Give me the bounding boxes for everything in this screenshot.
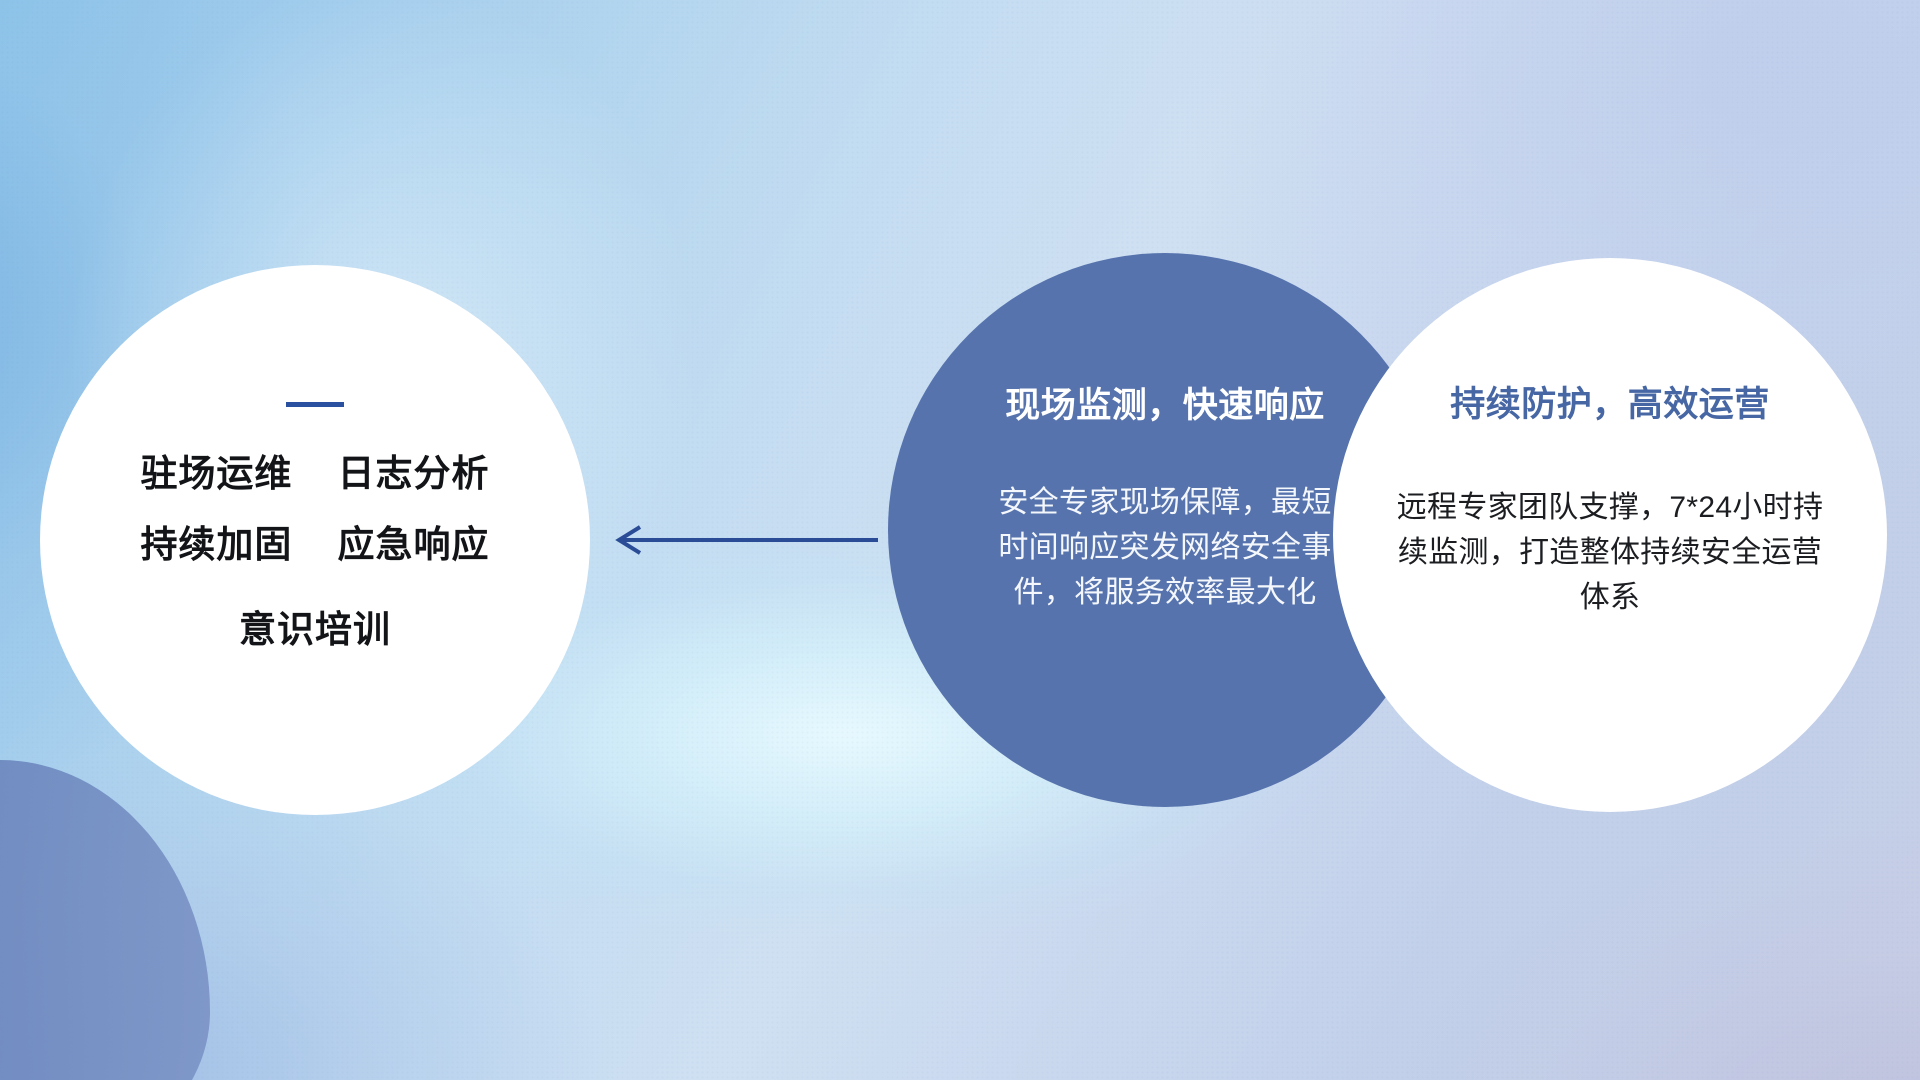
right-circle-description: 远程专家团队支撑，7*24小时持续监测，打造整体持续安全运营体系	[1395, 485, 1825, 620]
slide-canvas: 驻场运维 日志分析 持续加固 应急响应 意识培训 现场监测，快速响应 安全专家现…	[0, 0, 1920, 1080]
left-circle-keyword-list: 驻场运维 日志分析 持续加固 应急响应 意识培训	[140, 455, 489, 648]
flow-arrow-icon	[600, 520, 880, 560]
list-item: 意识培训	[140, 611, 489, 648]
list-item: 驻场运维 日志分析	[140, 455, 489, 492]
right-circle-node: 持续防护，高效运营 远程专家团队支撑，7*24小时持续监测，打造整体持续安全运营…	[1333, 258, 1887, 812]
left-circle-content: 驻场运维 日志分析 持续加固 应急响应 意识培训	[40, 265, 590, 815]
list-item: 持续加固 应急响应	[140, 526, 489, 563]
left-circle-node: 驻场运维 日志分析 持续加固 应急响应 意识培训	[40, 265, 590, 815]
divider-dash	[286, 402, 344, 407]
middle-circle-description: 安全专家现场保障，最短时间响应突发网络安全事件，将服务效率最大化	[985, 480, 1345, 615]
middle-circle-title: 现场监测，快速响应	[1005, 377, 1325, 428]
right-circle-content: 持续防护，高效运营 远程专家团队支撑，7*24小时持续监测，打造整体持续安全运营…	[1333, 258, 1887, 812]
right-circle-title: 持续防护，高效运营	[1450, 376, 1770, 427]
